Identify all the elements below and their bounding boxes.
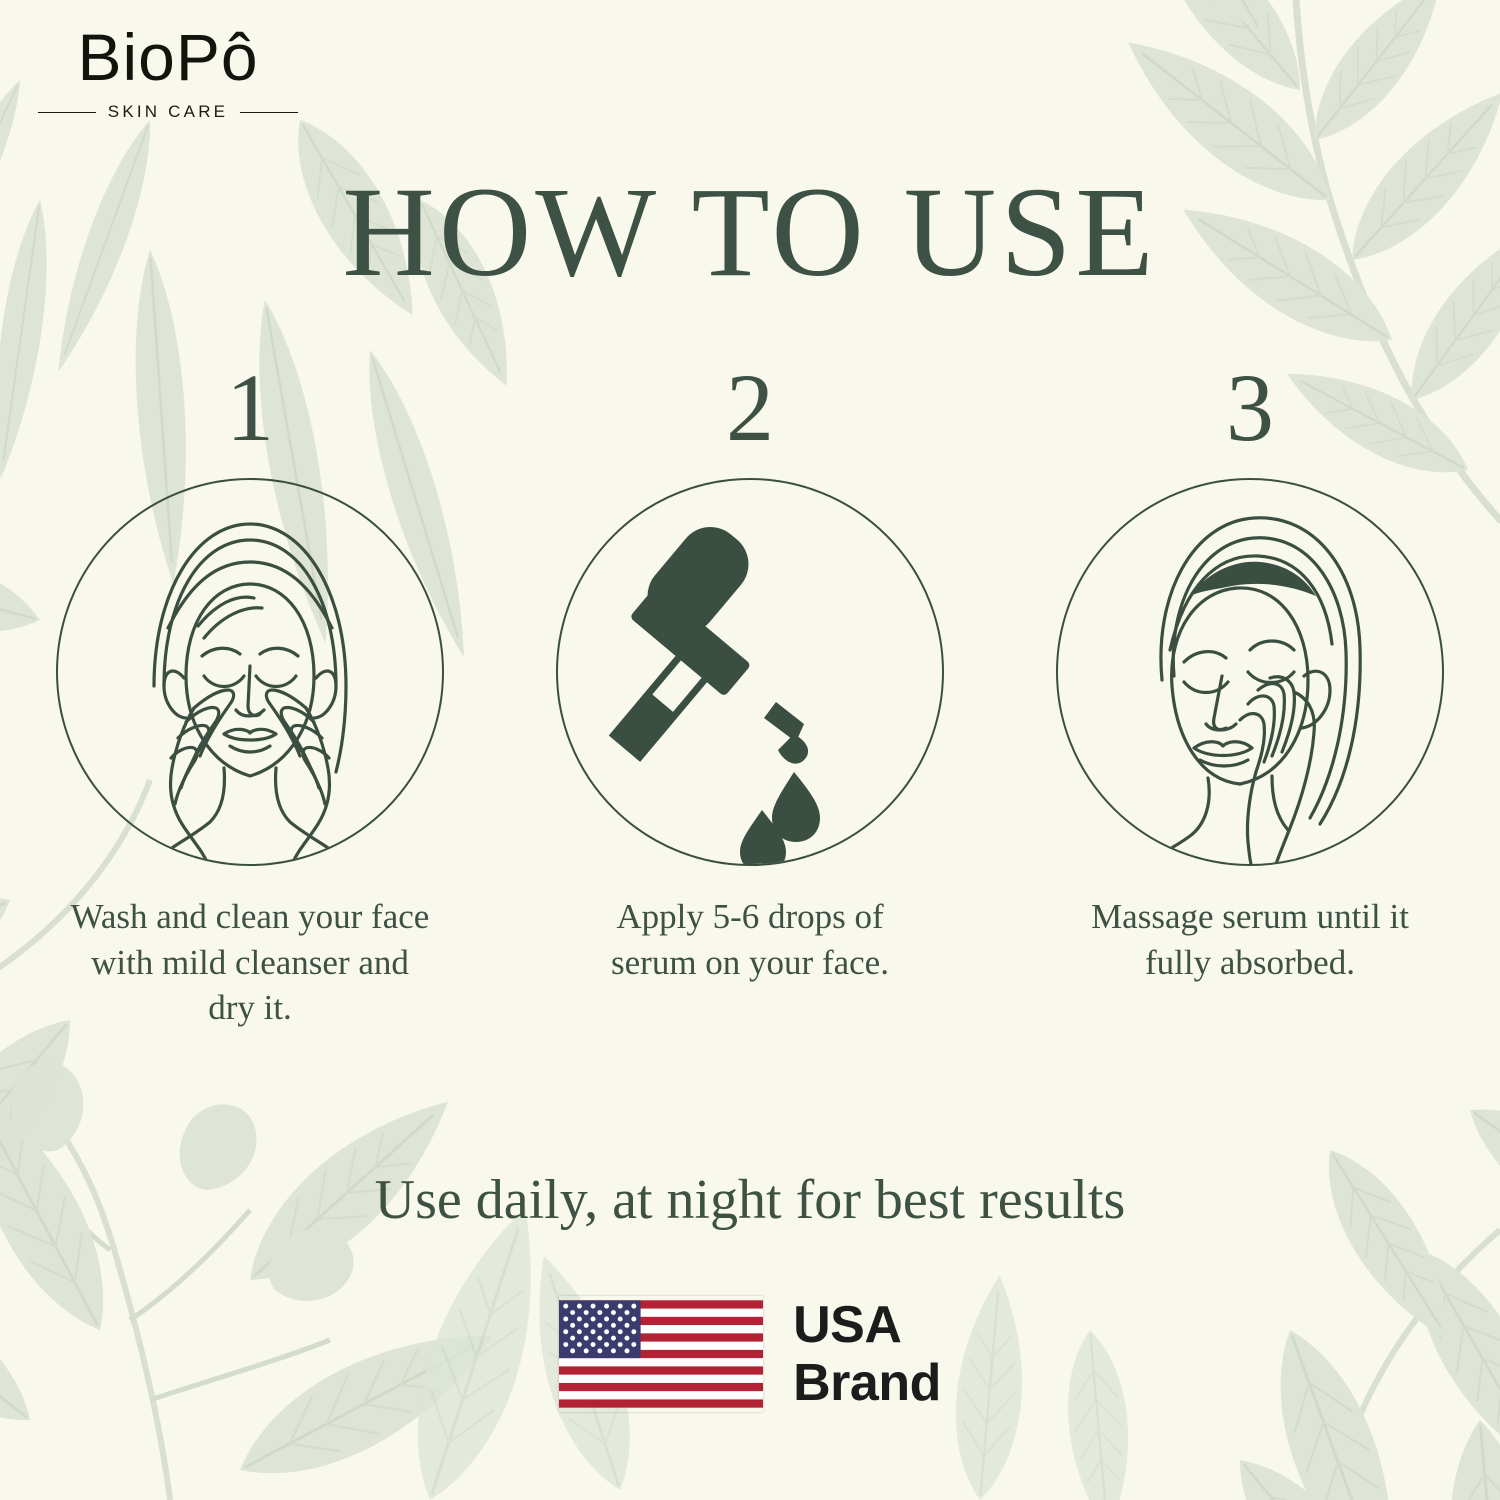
step-2: 2 <box>500 360 1000 1031</box>
step-1: 1 <box>0 360 500 1031</box>
usa-brand-label: USA Brand <box>793 1296 941 1412</box>
usa-brand-line1: USA <box>793 1296 941 1354</box>
logo-rule-left <box>38 112 96 113</box>
step-1-caption: Wash and clean your face with mild clean… <box>70 894 430 1031</box>
serum-dropper-icon <box>558 480 942 864</box>
step-2-caption: Apply 5-6 drops of serum on your face. <box>570 894 930 985</box>
logo-rule-right <box>240 112 298 113</box>
brand-tagline-row: SKIN CARE <box>28 102 308 122</box>
usa-brand-line2: Brand <box>793 1354 941 1412</box>
step-1-illustration <box>56 478 444 866</box>
face-massage-one-hand-icon <box>1058 480 1442 864</box>
how-to-use-infographic: BioPô SKIN CARE HOW TO USE 1 <box>0 0 1500 1500</box>
page-title: HOW TO USE <box>0 168 1500 296</box>
step-3: 3 <box>1000 360 1500 1031</box>
step-3-illustration <box>1056 478 1444 866</box>
step-2-illustration <box>556 478 944 866</box>
step-3-caption: Massage serum until it fully absorbed. <box>1070 894 1430 985</box>
step-1-number: 1 <box>226 360 274 478</box>
brand-tagline: SKIN CARE <box>108 102 228 122</box>
step-2-number: 2 <box>726 360 774 478</box>
step-3-number: 3 <box>1226 360 1274 478</box>
usa-flag-icon <box>559 1296 763 1412</box>
footer-tagline: Use daily, at night for best results <box>0 1168 1500 1232</box>
brand-logo: BioPô SKIN CARE <box>28 24 308 122</box>
steps-row: 1 <box>0 360 1500 1031</box>
face-wash-two-hands-icon <box>58 480 442 864</box>
usa-brand-badge: USA Brand <box>0 1296 1500 1412</box>
brand-wordmark: BioPô <box>28 24 308 90</box>
